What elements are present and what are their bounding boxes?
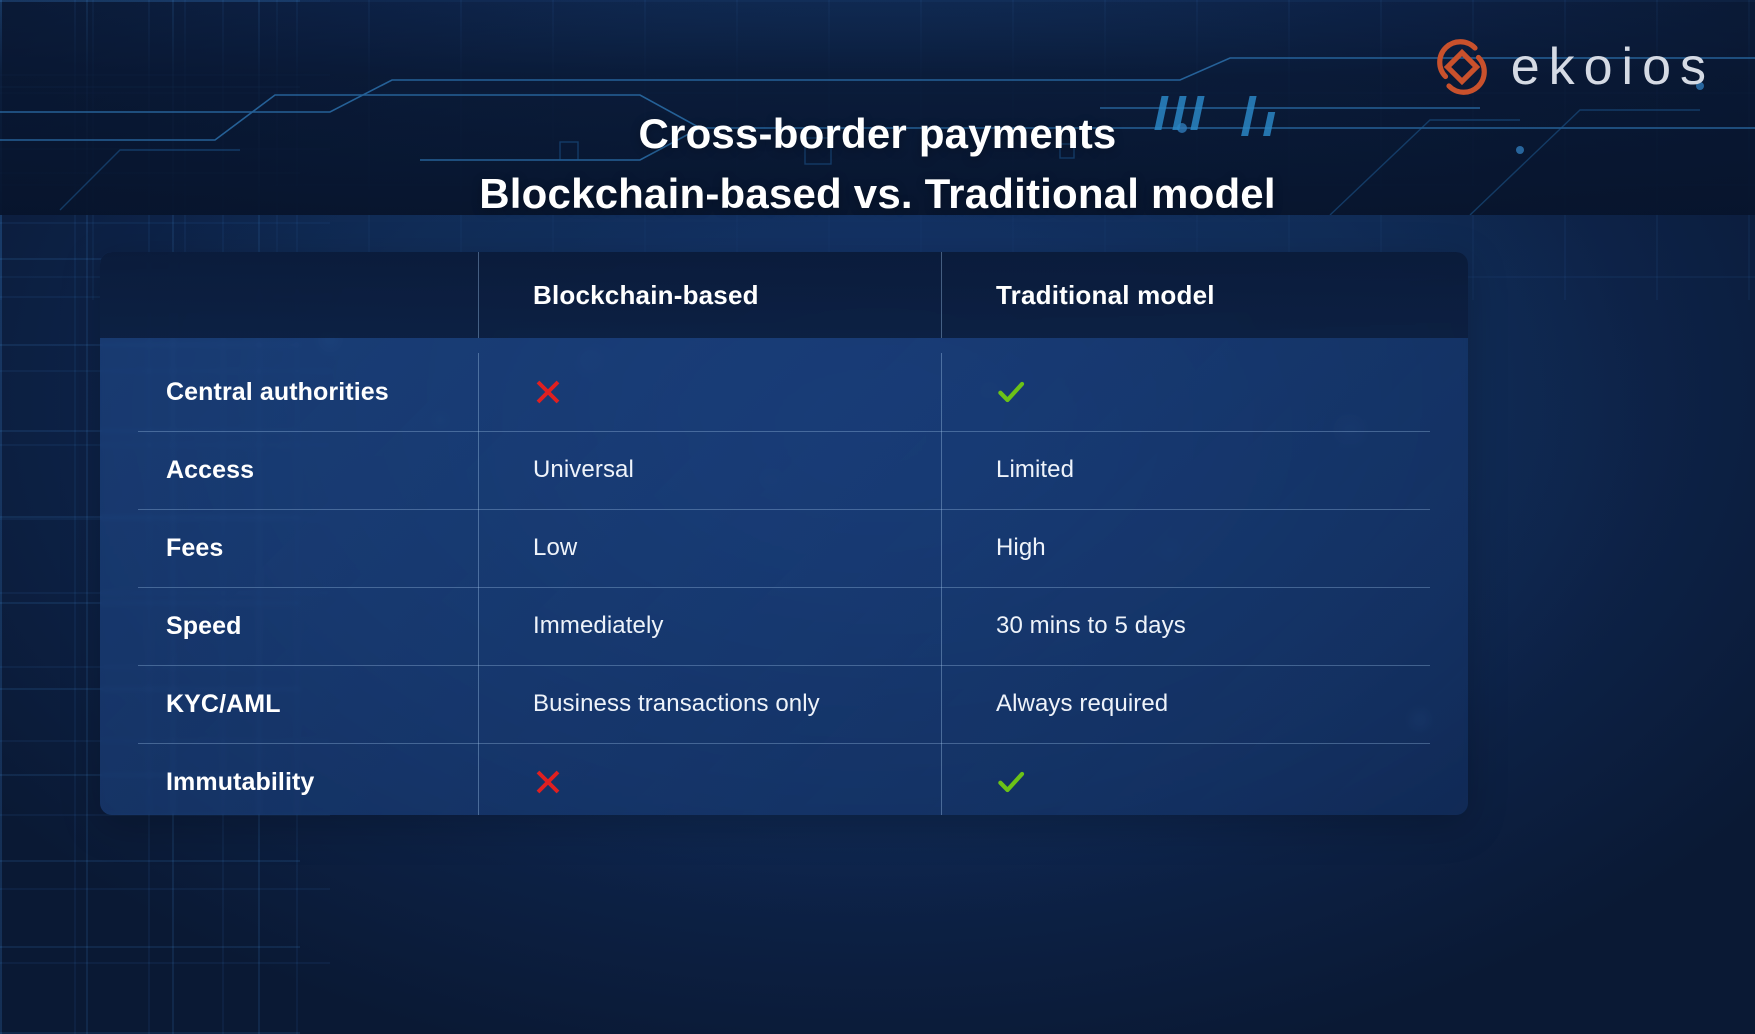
brand-logo-text: ekoios — [1511, 41, 1715, 93]
cross-icon — [533, 377, 563, 407]
table-cell-blockchain — [478, 353, 941, 431]
table-row-label: Immutability — [166, 768, 314, 797]
table-header-row: Blockchain-based Traditional model — [100, 252, 1468, 338]
table-row-label: Access — [166, 456, 254, 485]
table-row: Fees Low High — [100, 509, 1468, 587]
table-cell-traditional: 30 mins to 5 days — [941, 587, 1468, 665]
table-cell-value: Business transactions only — [533, 690, 820, 718]
table-cell-value: High — [996, 534, 1046, 562]
cross-icon — [533, 767, 563, 797]
table-header-label-blockchain: Blockchain-based — [533, 280, 759, 311]
table-cell-value: Immediately — [533, 612, 663, 640]
table-row-label: Speed — [166, 612, 242, 641]
table-header-spacer — [100, 338, 1468, 353]
table-row: KYC/AML Business transactions only Alway… — [100, 665, 1468, 743]
table-cell-value: Low — [533, 534, 577, 562]
check-icon — [996, 767, 1026, 797]
table-row-label-cell: Central authorities — [100, 353, 478, 431]
table-cell-blockchain: Business transactions only — [478, 665, 941, 743]
table-row-label-cell: KYC/AML — [100, 665, 478, 743]
comparison-table: Blockchain-based Traditional model Centr… — [100, 252, 1468, 815]
table-header-label-traditional: Traditional model — [996, 280, 1215, 311]
page-title: Cross-border payments Blockchain-based v… — [0, 104, 1755, 223]
table-cell-traditional: Limited — [941, 431, 1468, 509]
table-cell-blockchain: Immediately — [478, 587, 941, 665]
ekoios-link-icon — [1431, 38, 1493, 96]
table-row: Speed Immediately 30 mins to 5 days — [100, 587, 1468, 665]
table-cell-value: Always required — [996, 690, 1168, 718]
check-icon — [996, 377, 1026, 407]
page-title-line-1: Cross-border payments — [0, 104, 1755, 164]
table-row-label-cell: Immutability — [100, 743, 478, 815]
table-header-cell-blockchain: Blockchain-based — [478, 252, 941, 338]
table-header-cell-feature — [100, 252, 478, 338]
infographic-canvas: ekoios Cross-border payments Blockchain-… — [0, 0, 1755, 1034]
table-cell-value: 30 mins to 5 days — [996, 612, 1186, 640]
table-row-label: Fees — [166, 534, 223, 563]
table-cell-blockchain: Universal — [478, 431, 941, 509]
table-row: Central authorities — [100, 353, 1468, 431]
table-cell-traditional: Always required — [941, 665, 1468, 743]
table-cell-blockchain: Low — [478, 509, 941, 587]
table-row: Access Universal Limited — [100, 431, 1468, 509]
table-cell-value: Limited — [996, 456, 1074, 484]
table-cell-traditional: High — [941, 509, 1468, 587]
page-title-line-2: Blockchain-based vs. Traditional model — [0, 164, 1755, 224]
table-cell-value: Universal — [533, 456, 634, 484]
table-row-label: Central authorities — [166, 378, 389, 407]
table-row-label-cell: Fees — [100, 509, 478, 587]
table-row-label-cell: Access — [100, 431, 478, 509]
table-row-label: KYC/AML — [166, 690, 281, 719]
table-row-label-cell: Speed — [100, 587, 478, 665]
table-cell-traditional — [941, 743, 1468, 815]
brand-logo[interactable]: ekoios — [1431, 38, 1715, 96]
table-cell-blockchain — [478, 743, 941, 815]
table-header-cell-traditional: Traditional model — [941, 252, 1468, 338]
table-cell-traditional — [941, 353, 1468, 431]
table-row: Immutability — [100, 743, 1468, 815]
